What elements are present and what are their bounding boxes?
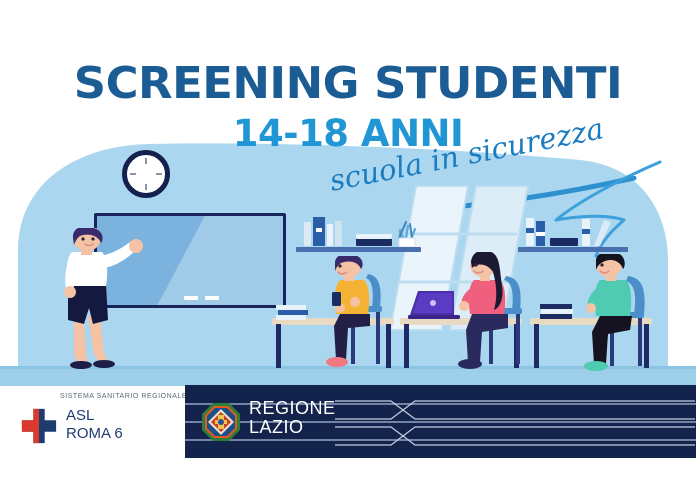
desk-leg [534, 324, 539, 368]
asl-line-2: ROMA 6 [66, 425, 123, 443]
laptop-icon [408, 289, 462, 321]
desk-leg [404, 324, 409, 368]
desk-books [540, 302, 576, 320]
marker-icon [205, 296, 219, 300]
asl-caption: SISTEMA SANITARIO REGIONALE [60, 393, 187, 400]
bookshelf-right [518, 208, 628, 253]
asl-line-1: ASL [66, 407, 123, 425]
student-phone [326, 256, 396, 371]
wall-clock-icon [122, 150, 170, 198]
bookshelf-left [296, 208, 421, 253]
asl-logo: SISTEMA SANITARIO REGIONALE ASL ROMA 6 [20, 393, 170, 453]
student-seated [584, 254, 660, 374]
banner-decor-lines [335, 393, 695, 451]
page-title: SCREENING STUDENTI [0, 58, 696, 109]
asl-name: ASL ROMA 6 [66, 407, 123, 442]
marker-icon [184, 296, 198, 300]
student-laptop [452, 252, 530, 372]
poster-canvas: SCREENING STUDENTI 14-18 ANNI scuola in … [0, 0, 696, 482]
regione-line-2: LAZIO [249, 418, 336, 437]
regione-lazio-banner: REGIONE LAZIO [185, 385, 696, 458]
medical-cross-icon [20, 407, 58, 445]
desk-books [276, 305, 310, 321]
teacher [48, 228, 158, 373]
regione-line-1: REGIONE [249, 399, 336, 418]
desk-leg [276, 324, 281, 368]
regione-lazio-wordmark: REGIONE LAZIO [249, 399, 336, 438]
regione-lazio-emblem-icon [201, 402, 241, 442]
